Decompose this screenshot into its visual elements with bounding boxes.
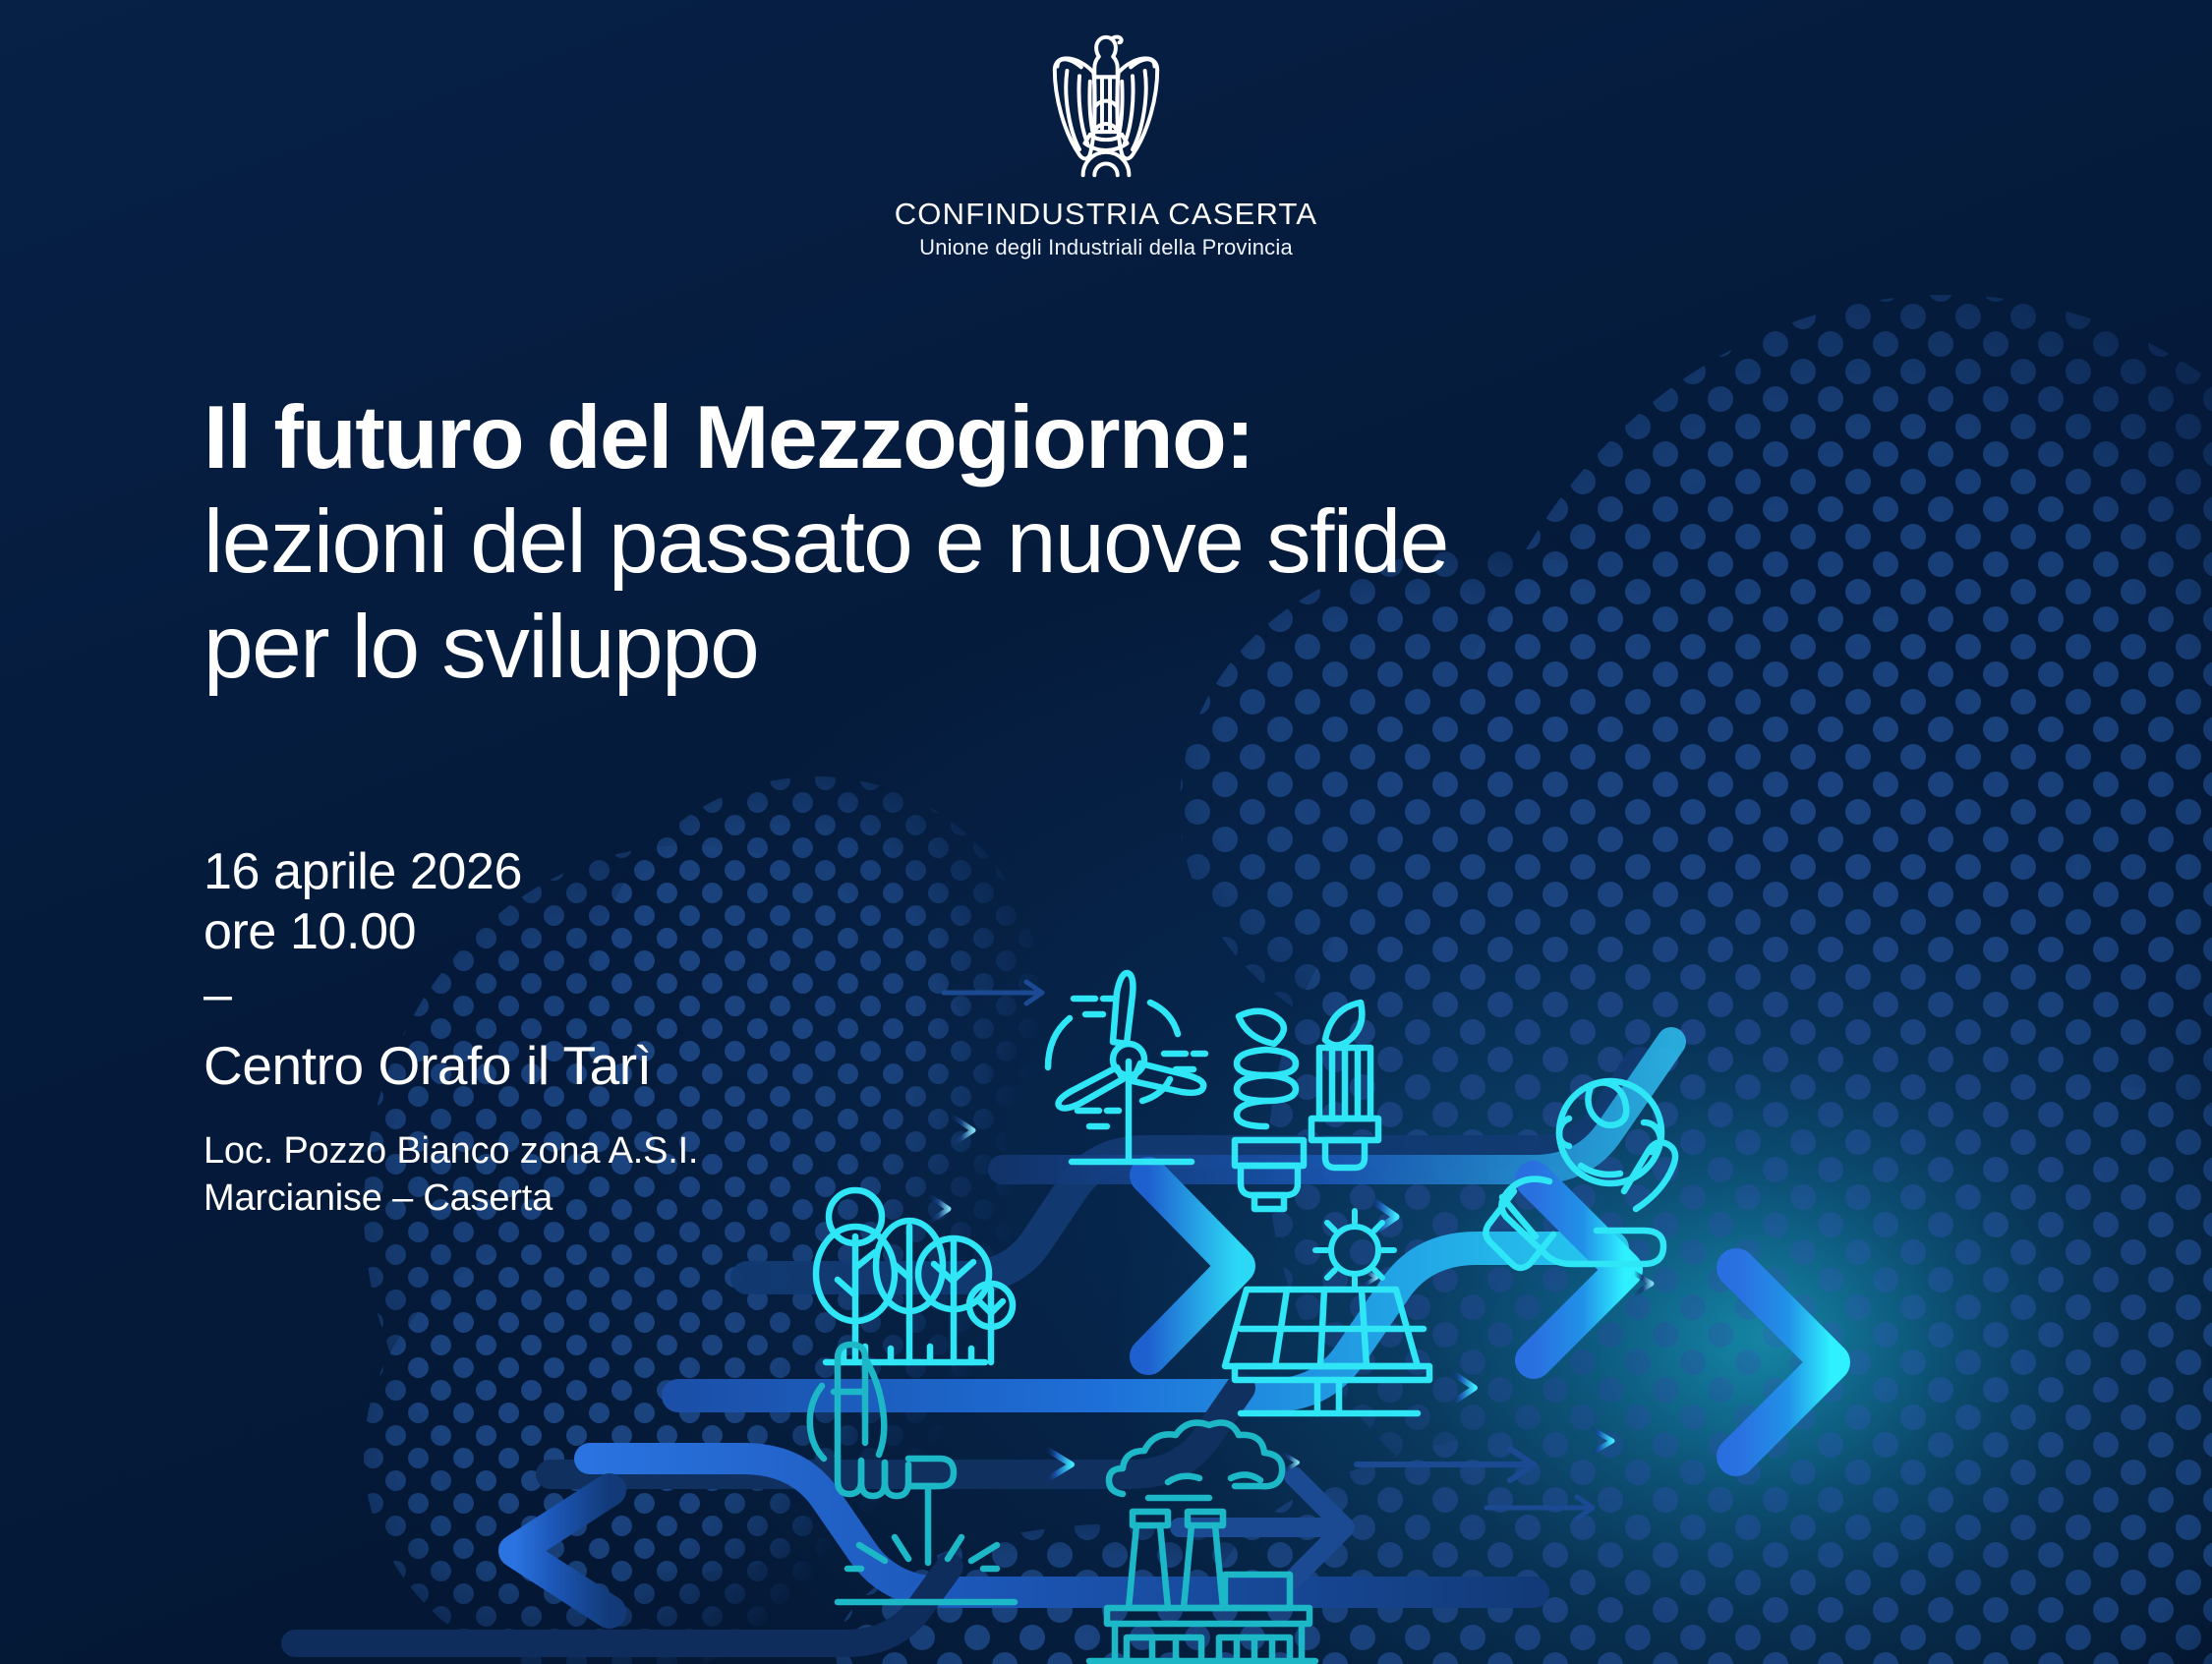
event-poster: CONFINDUSTRIA CASERTA Unione degli Indus…	[0, 0, 2212, 1664]
arrow-right-icon	[728, 1115, 973, 1146]
sustainability-illustration	[0, 0, 2212, 1664]
sun-icon	[1315, 1211, 1394, 1290]
wind-turbine-icon	[1048, 973, 1205, 1162]
leaf-icon	[1239, 1003, 1362, 1046]
arrow-left-icon	[515, 1490, 855, 1612]
arrow-right-icon	[944, 982, 1042, 1004]
